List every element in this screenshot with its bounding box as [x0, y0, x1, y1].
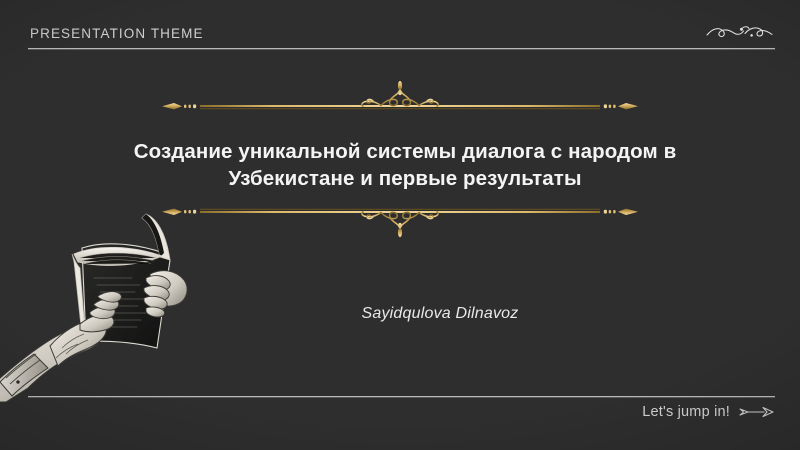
- jump-in-label: Let's jump in!: [642, 404, 730, 420]
- gold-ornamental-divider-flipped-icon: [160, 198, 640, 242]
- author-block: Sayidqulova Dilnavoz: [200, 305, 680, 323]
- header-divider-rule: [28, 48, 775, 50]
- jump-in-cta[interactable]: Let's jump in!: [642, 404, 775, 420]
- footer-divider-rule: [28, 396, 775, 398]
- gold-ornamental-divider-icon: [160, 76, 640, 120]
- swirl-flourish-icon: [705, 18, 775, 44]
- author-name: Sayidqulova Dilnavoz: [200, 305, 680, 323]
- page-title: PRESENTATION THEME: [30, 26, 204, 41]
- slide-title: Создание уникальной системы диалога с на…: [130, 138, 680, 193]
- long-arrow-right-icon: [739, 405, 775, 419]
- presentation-slide: PRESENTATION THEME: [0, 0, 800, 450]
- title-text: Создание уникальной системы диалога с на…: [130, 138, 680, 193]
